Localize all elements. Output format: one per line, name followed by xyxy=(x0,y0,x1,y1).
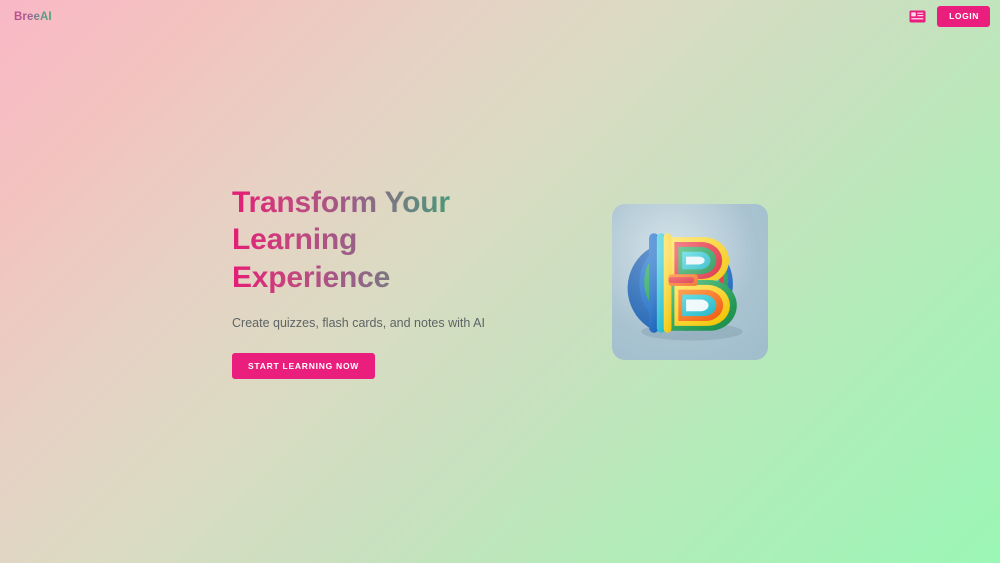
hero-section: Transform Your Learning Experience Creat… xyxy=(0,0,1000,563)
start-learning-button[interactable]: START LEARNING NOW xyxy=(232,353,375,380)
hero-subtitle: Create quizzes, flash cards, and notes w… xyxy=(232,315,494,333)
page-title: Transform Your Learning Experience xyxy=(232,184,494,297)
hero-image-card xyxy=(612,204,768,360)
rainbow-b-logo-icon xyxy=(612,204,768,360)
hero-copy: Transform Your Learning Experience Creat… xyxy=(232,184,494,380)
